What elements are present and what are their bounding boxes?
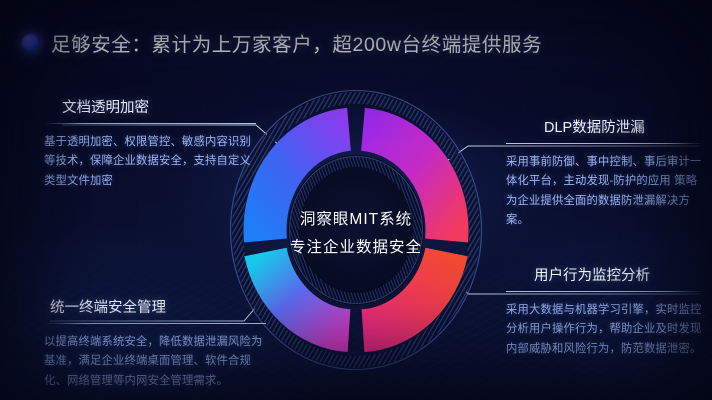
page-title: 足够安全：累计为上万家客户，超200w台终端提供服务 (51, 28, 542, 57)
glow-dot-icon (22, 34, 39, 51)
callout-title-document-encryption: 文档透明加密 (62, 96, 256, 117)
donut-inner-hatch-ring (228, 88, 484, 372)
callout-body-user-behavior: 采用大数据与机器学习引擎，实时监控分析用户操作行为，帮助企业及时发现内部威胁和风… (506, 301, 706, 359)
callout-rule-document-encryption (44, 123, 256, 124)
callout-dlp: DLP数据防泄漏 采用事前防御、事中控制、事后审计一体化平台，主动发现-防护的应… (506, 116, 706, 231)
callout-body-dlp: 采用事前防御、事中控制、事后审计一体化平台，主动发现-防护的应用 策略为企业提供… (506, 153, 706, 231)
callout-rule-user-behavior (506, 291, 706, 292)
callout-rule-dlp (506, 143, 706, 144)
callout-rule-unified-terminal (44, 323, 266, 324)
center-label-line1: 洞察眼MIT系统 (300, 210, 412, 228)
callout-body-document-encryption: 基于透明加密、权限管控、敏感内容识别等技术，保障企业数据安全，支持自定义类型文件… (44, 133, 256, 191)
callout-title-unified-terminal: 统一终端安全管理 (50, 296, 266, 317)
callout-document-encryption: 文档透明加密 基于透明加密、权限管控、敏感内容识别等技术，保障企业数据安全，支持… (44, 96, 256, 191)
center-label-line2: 专注企业数据安全 (290, 238, 422, 256)
callout-unified-terminal: 统一终端安全管理 以提高终端系统安全，降低数据泄漏风险为基准，满足企业终端桌面管… (44, 296, 266, 391)
callout-body-unified-terminal: 以提高终端系统安全，降低数据泄漏风险为基准，满足企业终端桌面管理、软件合规化、网… (44, 333, 266, 391)
callout-title-user-behavior: 用户行为监控分析 (534, 264, 706, 285)
slide-canvas: 足够安全：累计为上万家客户，超200w台终端提供服务 (0, 0, 712, 400)
callout-user-behavior: 用户行为监控分析 采用大数据与机器学习引擎，实时监控分析用户操作行为，帮助企业及… (506, 264, 706, 359)
donut-chart: 洞察眼MIT系统 专注企业数据安全 (228, 88, 484, 372)
slide-header: 足够安全：累计为上万家客户，超200w台终端提供服务 (22, 28, 542, 57)
callout-title-dlp: DLP数据防泄漏 (544, 116, 706, 137)
